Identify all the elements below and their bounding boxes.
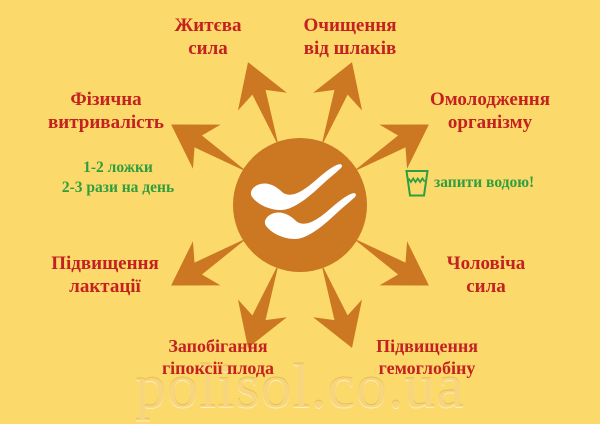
infographic-canvas: polisol.co.ua bbox=[0, 0, 600, 424]
benefit-label-lactation: Підвищення лактації bbox=[14, 252, 196, 298]
benefit-label-male-strength: Чоловіча сила bbox=[404, 252, 568, 298]
center-circle-emblem bbox=[233, 138, 367, 272]
benefit-label-hypoxia-prevention: Запобігання гіпоксії плода bbox=[122, 336, 314, 380]
benefit-label-hemoglobin: Підвищення гемоглобіну bbox=[334, 336, 520, 380]
center-circle bbox=[233, 138, 367, 272]
benefit-label-rejuvenation: Омолодження організму bbox=[392, 88, 588, 134]
dosage-note: 1-2 ложки 2-3 рази на день bbox=[28, 158, 208, 198]
benefit-label-vital-force: Житєва сила bbox=[152, 14, 264, 60]
benefit-label-cleansing: Очищення від шлаків bbox=[272, 14, 428, 60]
benefit-label-physical-endurance: Фізична витривалість bbox=[18, 88, 194, 134]
water-note-group: запити водою! bbox=[404, 168, 534, 198]
water-glass-icon bbox=[404, 168, 430, 198]
water-note-text: запити водою! bbox=[434, 174, 534, 193]
